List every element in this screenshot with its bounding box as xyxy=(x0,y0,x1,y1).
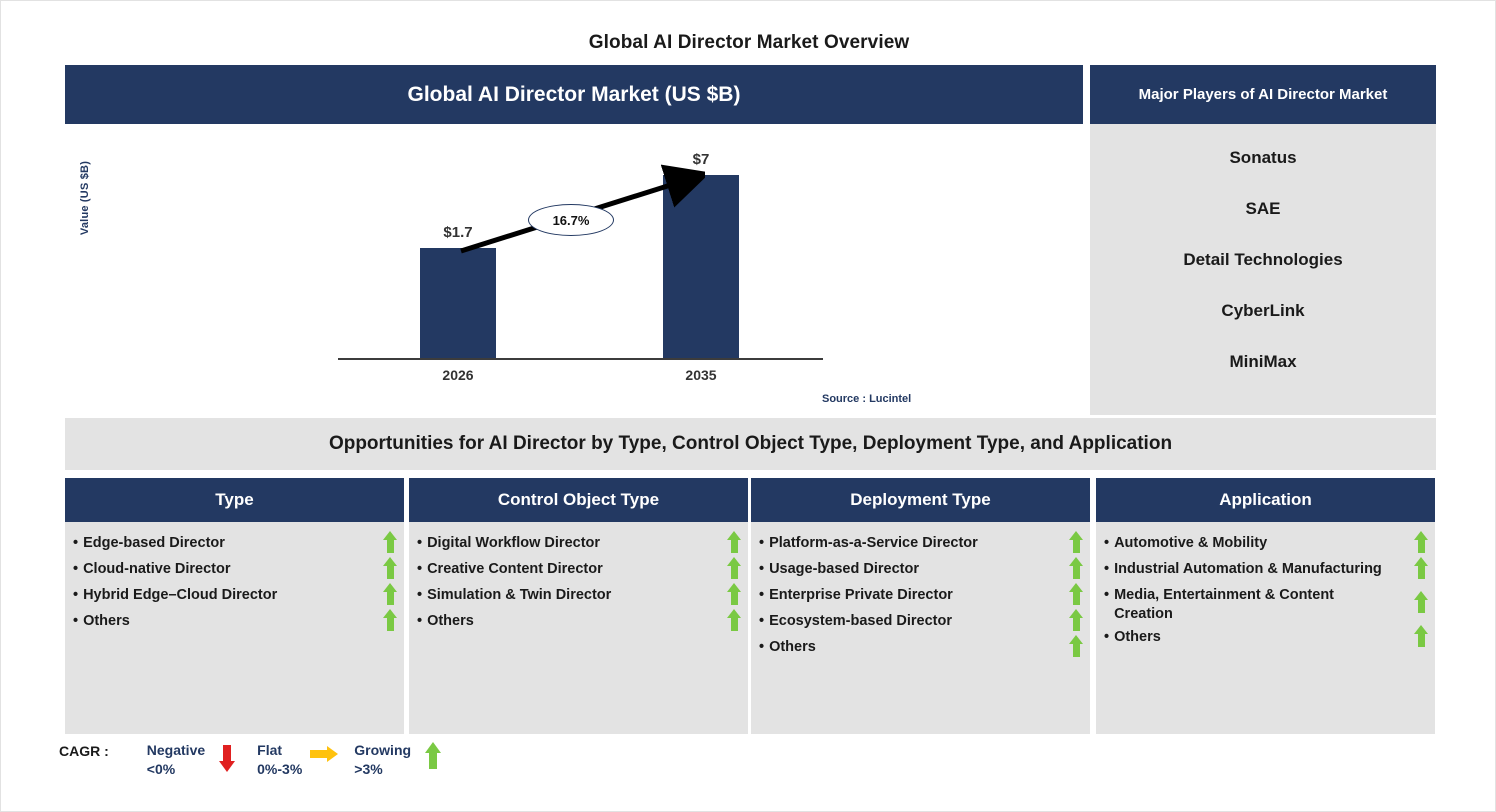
opportunity-item: •Platform-as-a-Service Director xyxy=(759,534,1080,556)
bullet-icon: • xyxy=(73,560,78,579)
column-items: •Platform-as-a-Service Director•Usage-ba… xyxy=(751,522,1090,734)
opportunity-column-application: Application •Automotive & Mobility•Indus… xyxy=(1096,478,1435,734)
opportunity-item: •Media, Entertainment & Content Creation xyxy=(1104,586,1425,624)
legend-item-growing: Growing >3% xyxy=(354,741,457,779)
chart-y-axis-label: Value (US $B) xyxy=(79,138,91,258)
opportunity-label: Automotive & Mobility xyxy=(1114,534,1425,553)
x-tick-2026: 2026 xyxy=(403,367,513,383)
cagr-value-bubble: 16.7% xyxy=(528,204,614,236)
opportunity-item: •Hybrid Edge–Cloud Director xyxy=(73,586,394,608)
bullet-icon: • xyxy=(417,612,422,631)
opportunity-label: Media, Entertainment & Content Creation xyxy=(1114,586,1425,624)
opportunity-label: Ecosystem-based Director xyxy=(769,612,1080,631)
arrow-down-icon xyxy=(211,741,245,779)
opportunity-label: Others xyxy=(769,638,1080,657)
opportunity-label: Creative Content Director xyxy=(427,560,738,579)
opportunity-label: Simulation & Twin Director xyxy=(427,586,738,605)
bullet-icon: • xyxy=(759,638,764,657)
opportunity-item: •Creative Content Director xyxy=(417,560,738,582)
legend-item-flat: Flat 0%-3% xyxy=(257,741,348,779)
legend-range: >3% xyxy=(354,760,411,779)
bullet-icon: • xyxy=(759,586,764,605)
bullet-icon: • xyxy=(759,560,764,579)
opportunity-item: •Digital Workflow Director xyxy=(417,534,738,556)
bullet-icon: • xyxy=(759,534,764,553)
column-header: Application xyxy=(1096,478,1435,522)
bullet-icon: • xyxy=(417,534,422,553)
opportunity-column-type: Type •Edge-based Director•Cloud-native D… xyxy=(65,478,404,734)
opportunity-label: Enterprise Private Director xyxy=(769,586,1080,605)
opportunity-item: •Simulation & Twin Director xyxy=(417,586,738,608)
opportunity-item: •Industrial Automation & Manufacturing xyxy=(1104,560,1425,582)
bullet-icon: • xyxy=(73,612,78,631)
opportunity-item: •Usage-based Director xyxy=(759,560,1080,582)
opportunity-label: Platform-as-a-Service Director xyxy=(769,534,1080,553)
legend-item-negative: Negative <0% xyxy=(147,741,251,779)
arrow-right-icon xyxy=(308,741,342,779)
player-item: SAE xyxy=(1090,199,1436,219)
bullet-icon: • xyxy=(73,534,78,553)
legend-name: Growing xyxy=(354,741,411,760)
arrow-up-icon xyxy=(417,741,451,779)
legend-name: Negative xyxy=(147,741,205,760)
opportunity-item: •Others xyxy=(759,638,1080,660)
opportunity-item: •Others xyxy=(73,612,394,634)
legend-name: Flat xyxy=(257,741,302,760)
chart-source-note: Source : Lucintel xyxy=(822,393,911,405)
legend-text-growing: Growing >3% xyxy=(354,741,411,779)
major-players-list: Sonatus SAE Detail Technologies CyberLin… xyxy=(1090,124,1436,415)
bullet-icon: • xyxy=(1104,586,1109,605)
opportunity-label: Digital Workflow Director xyxy=(427,534,738,553)
infographic-page: Global AI Director Market Overview Globa… xyxy=(0,0,1496,812)
page-title: Global AI Director Market Overview xyxy=(1,32,1496,54)
opportunity-column-deployment-type: Deployment Type •Platform-as-a-Service D… xyxy=(751,478,1090,734)
opportunity-label: Edge-based Director xyxy=(83,534,394,553)
opportunity-item: •Ecosystem-based Director xyxy=(759,612,1080,634)
opportunity-label: Hybrid Edge–Cloud Director xyxy=(83,586,394,605)
opportunity-column-control-object-type: Control Object Type •Digital Workflow Di… xyxy=(409,478,748,734)
player-item: CyberLink xyxy=(1090,301,1436,321)
bullet-icon: • xyxy=(417,560,422,579)
opportunity-item: •Enterprise Private Director xyxy=(759,586,1080,608)
column-header: Control Object Type xyxy=(409,478,748,522)
opportunity-item: •Edge-based Director xyxy=(73,534,394,556)
opportunity-item: •Others xyxy=(1104,628,1425,650)
cagr-legend-label: CAGR : xyxy=(59,741,109,759)
opportunity-item: •Automotive & Mobility xyxy=(1104,534,1425,556)
bullet-icon: • xyxy=(417,586,422,605)
chart-x-axis xyxy=(338,358,823,360)
column-items: •Digital Workflow Director•Creative Cont… xyxy=(409,522,748,734)
opportunity-label: Industrial Automation & Manufacturing xyxy=(1114,560,1425,579)
legend-text-flat: Flat 0%-3% xyxy=(257,741,302,779)
x-tick-2035: 2035 xyxy=(646,367,756,383)
opportunity-label: Others xyxy=(83,612,394,631)
opportunity-label: Cloud-native Director xyxy=(83,560,394,579)
bullet-icon: • xyxy=(759,612,764,631)
bullet-icon: • xyxy=(1104,534,1109,553)
cagr-legend: CAGR : Negative <0% Flat 0%-3% Growing >… xyxy=(59,741,463,779)
opportunities-banner: Opportunities for AI Director by Type, C… xyxy=(65,418,1436,470)
opportunity-label: Others xyxy=(1114,628,1425,647)
column-header: Type xyxy=(65,478,404,522)
player-item: Detail Technologies xyxy=(1090,250,1436,270)
opportunity-item: •Cloud-native Director xyxy=(73,560,394,582)
chart-panel-header: Global AI Director Market (US $B) xyxy=(65,65,1083,124)
opportunity-label: Others xyxy=(427,612,738,631)
legend-range: <0% xyxy=(147,760,205,779)
market-bar-chart: Value (US $B) $1.7 $7 16.7% 2026 2035 So… xyxy=(65,124,1083,415)
column-header: Deployment Type xyxy=(751,478,1090,522)
legend-range: 0%-3% xyxy=(257,760,302,779)
legend-text-negative: Negative <0% xyxy=(147,741,205,779)
opportunity-label: Usage-based Director xyxy=(769,560,1080,579)
major-players-header: Major Players of AI Director Market xyxy=(1090,65,1436,124)
bullet-icon: • xyxy=(1104,560,1109,579)
opportunity-item: •Others xyxy=(417,612,738,634)
bullet-icon: • xyxy=(73,586,78,605)
player-item: MiniMax xyxy=(1090,352,1436,372)
column-items: •Edge-based Director•Cloud-native Direct… xyxy=(65,522,404,734)
bullet-icon: • xyxy=(1104,628,1109,647)
player-item: Sonatus xyxy=(1090,148,1436,168)
column-items: •Automotive & Mobility•Industrial Automa… xyxy=(1096,522,1435,734)
